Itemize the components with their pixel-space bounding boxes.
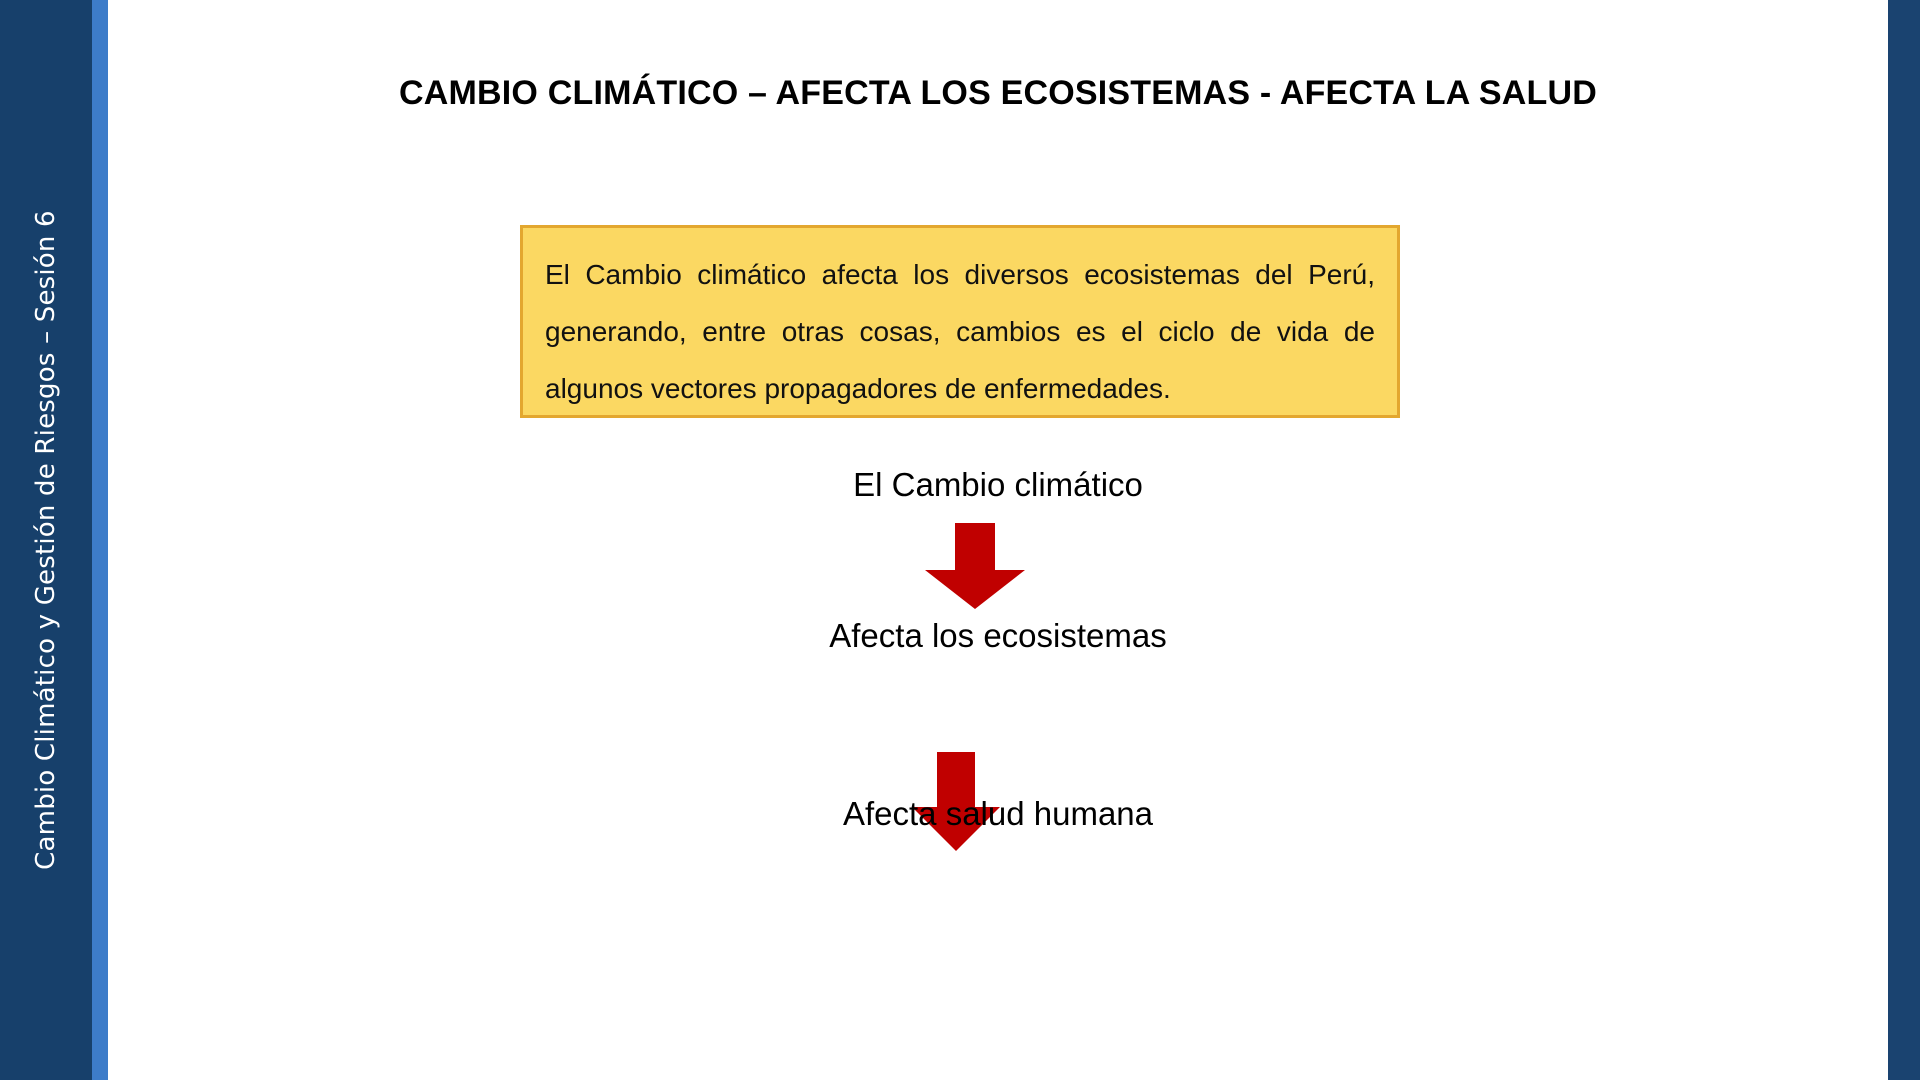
slide-canvas: Cambio Climático y Gestión de Riesgos – … [0,0,1920,1080]
flow-step-1-label: El Cambio climático [108,466,1888,504]
right-edge-band [1888,0,1920,1080]
flow-step-2-label: Afecta los ecosistemas [108,617,1888,655]
down-arrow-icon [925,523,1025,609]
callout-box: El Cambio climático afecta los diversos … [520,225,1400,418]
sidebar-accent-strip [92,0,108,1080]
callout-text: El Cambio climático afecta los diversos … [545,246,1375,417]
sidebar-band [0,0,92,1080]
flow-diagram: El Cambio climático Afecta los ecosistem… [108,0,1888,1080]
down-arrow-icon [912,752,1000,851]
page-title: CAMBIO CLIMÁTICO – AFECTA LOS ECOSISTEMA… [108,74,1888,113]
